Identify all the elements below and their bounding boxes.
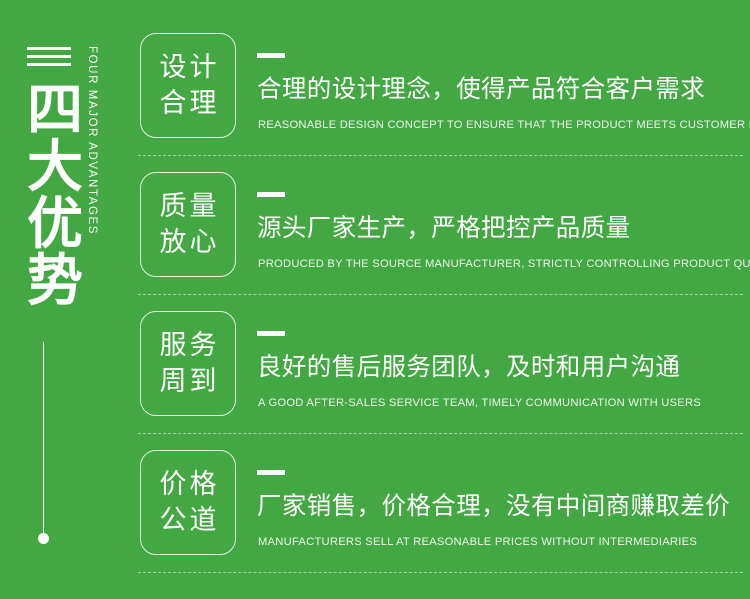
advantage-headline-en: PRODUCED BY THE SOURCE MANUFACTURER, STR…	[258, 257, 750, 271]
row-divider	[138, 572, 743, 573]
dash-mark-icon	[257, 470, 285, 475]
advantages-list: 设计 合理 合理的设计理念，使得产品符合客户需求 REASONABLE DESI…	[130, 0, 750, 599]
advantages-banner: 四大优势 FOUR MAJOR ADVANTAGES 设计 合理 合理的设计理念…	[0, 0, 750, 599]
advantage-item: 设计 合理 合理的设计理念，使得产品符合客户需求 REASONABLE DESI…	[130, 33, 750, 150]
advantage-text: 源头厂家生产，严格把控产品质量 PRODUCED BY THE SOURCE M…	[257, 172, 747, 277]
sidebar-subtitle: FOUR MAJOR ADVANTAGES	[86, 46, 98, 235]
advantage-headline-en: MANUFACTURERS SELL AT REASONABLE PRICES …	[258, 535, 697, 549]
advantage-item: 价格 公道 厂家销售，价格合理，没有中间商赚取差价 MANUFACTURERS …	[130, 450, 750, 567]
vertical-decor-line	[43, 342, 44, 535]
row-divider	[138, 155, 743, 156]
advantage-headline-cn: 良好的售后服务团队，及时和用户沟通	[257, 352, 680, 382]
advantage-badge: 价格 公道	[140, 450, 236, 555]
rule-line	[27, 63, 71, 66]
dash-mark-icon	[257, 53, 285, 58]
advantage-text: 良好的售后服务团队，及时和用户沟通 A GOOD AFTER-SALES SER…	[257, 311, 747, 416]
advantage-badge: 服务 周到	[140, 311, 236, 416]
advantage-badge: 质量 放心	[140, 172, 236, 277]
rule-line	[27, 55, 71, 58]
badge-line-1: 质量	[157, 189, 220, 225]
advantage-headline-cn: 源头厂家生产，严格把控产品质量	[257, 213, 631, 243]
advantage-badge: 设计 合理	[140, 33, 236, 138]
sidebar: 四大优势 FOUR MAJOR ADVANTAGES	[0, 0, 130, 599]
advantage-text: 厂家销售，价格合理，没有中间商赚取差价 MANUFACTURERS SELL A…	[257, 450, 747, 555]
advantage-headline-en: A GOOD AFTER-SALES SERVICE TEAM, TIMELY …	[258, 396, 701, 410]
badge-line-2: 合理	[157, 86, 220, 122]
advantage-item: 服务 周到 良好的售后服务团队，及时和用户沟通 A GOOD AFTER-SAL…	[130, 311, 750, 428]
advantage-headline-en: REASONABLE DESIGN CONCEPT TO ENSURE THAT…	[258, 118, 750, 132]
badge-line-2: 周到	[157, 364, 220, 400]
advantage-item: 质量 放心 源头厂家生产，严格把控产品质量 PRODUCED BY THE SO…	[130, 172, 750, 289]
badge-line-1: 服务	[157, 328, 220, 364]
rule-line	[27, 47, 71, 50]
badge-line-2: 放心	[157, 225, 220, 261]
row-divider	[138, 294, 743, 295]
dash-mark-icon	[257, 192, 285, 197]
triple-rule-icon	[27, 47, 71, 66]
decor-dot-icon	[38, 533, 49, 544]
advantage-text: 合理的设计理念，使得产品符合客户需求 REASONABLE DESIGN CON…	[257, 33, 747, 138]
row-divider	[138, 433, 743, 434]
advantage-headline-cn: 合理的设计理念，使得产品符合客户需求	[257, 74, 705, 104]
advantage-headline-cn: 厂家销售，价格合理，没有中间商赚取差价	[257, 491, 730, 521]
badge-line-2: 公道	[157, 503, 220, 539]
badge-line-1: 价格	[157, 467, 220, 503]
badge-line-1: 设计	[157, 50, 220, 86]
sidebar-title: 四大优势	[27, 82, 91, 310]
dash-mark-icon	[257, 331, 285, 336]
